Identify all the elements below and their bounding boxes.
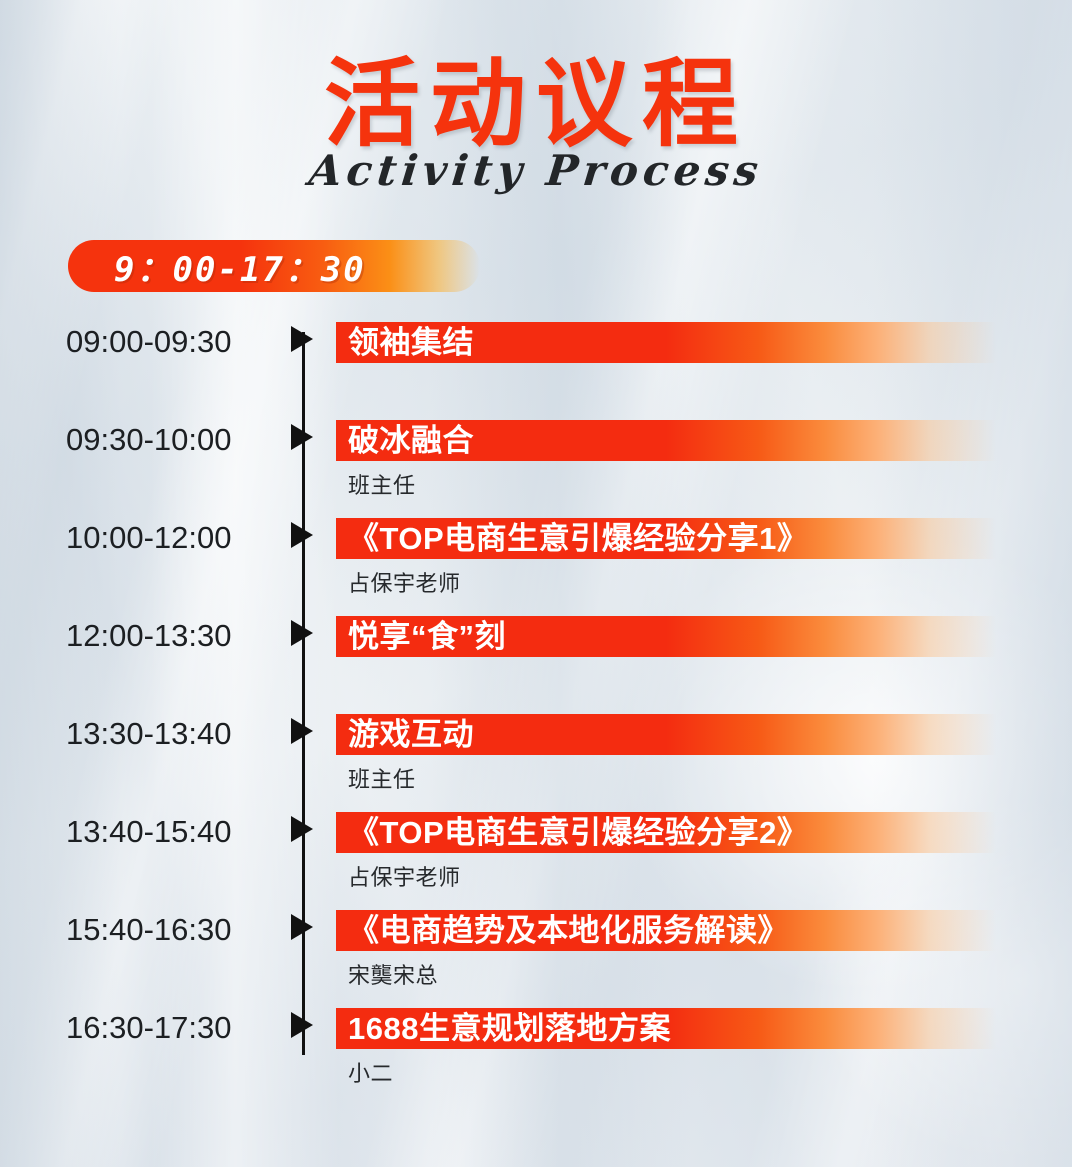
agenda-row: 09:00-09:30领袖集结: [0, 318, 1072, 416]
agenda-poster: 活动议程 Activity Process 9：00-17：30 09:00-0…: [0, 0, 1072, 1167]
agenda-row-bar: 《TOP电商生意引爆经验分享2》: [336, 812, 996, 853]
page-title: 活动议程: [0, 56, 1072, 152]
agenda-row-speaker: 宋龑宋总: [348, 958, 438, 990]
agenda-list: 09:00-09:30领袖集结09:30-10:00破冰融合班主任10:00-1…: [0, 318, 1072, 1102]
agenda-row-time: 15:40-16:30: [66, 912, 288, 948]
agenda-row: 15:40-16:30《电商趋势及本地化服务解读》宋龑宋总: [0, 906, 1072, 1004]
agenda-row: 09:30-10:00破冰融合班主任: [0, 416, 1072, 514]
agenda-row-bar: 1688生意规划落地方案: [336, 1008, 996, 1049]
poster-header: 活动议程 Activity Process: [0, 0, 1072, 225]
agenda-row-title: 游戏互动: [336, 719, 474, 750]
agenda-row-title: 悦享“食”刻: [336, 621, 506, 652]
agenda-row: 13:30-13:40游戏互动班主任: [0, 710, 1072, 808]
agenda-row-speaker: 占保宇老师: [348, 860, 461, 892]
agenda-row-time: 13:30-13:40: [66, 716, 288, 752]
agenda-row-speaker: 班主任: [348, 762, 416, 794]
agenda-row: 12:00-13:30悦享“食”刻: [0, 612, 1072, 710]
agenda-row-bar: 《电商趋势及本地化服务解读》: [336, 910, 996, 951]
agenda-row-speaker: 小二: [348, 1056, 393, 1088]
timeline-marker-triangle-icon: [291, 914, 313, 940]
time-range-badge-label: 9：00-17：30: [68, 242, 366, 291]
agenda-row-time: 09:00-09:30: [66, 324, 288, 360]
page-subtitle: Activity Process: [0, 150, 1072, 192]
time-range-badge: 9：00-17：30: [68, 240, 480, 292]
timeline-marker-triangle-icon: [291, 326, 313, 352]
timeline-marker-triangle-icon: [291, 1012, 313, 1038]
timeline-marker-triangle-icon: [291, 816, 313, 842]
timeline-marker-triangle-icon: [291, 522, 313, 548]
agenda-row-bar: 游戏互动: [336, 714, 996, 755]
agenda-row-time: 09:30-10:00: [66, 422, 288, 458]
agenda-row-title: 《TOP电商生意引爆经验分享2》: [336, 817, 808, 848]
agenda-row-bar: 领袖集结: [336, 322, 996, 363]
agenda-row-bar: 破冰融合: [336, 420, 996, 461]
agenda-row-title: 《TOP电商生意引爆经验分享1》: [336, 523, 808, 554]
timeline-marker-triangle-icon: [291, 620, 313, 646]
agenda-row-title: 领袖集结: [336, 327, 474, 358]
agenda-row-title: 1688生意规划落地方案: [336, 1013, 671, 1044]
timeline-marker-triangle-icon: [291, 424, 313, 450]
agenda-row-title: 《电商趋势及本地化服务解读》: [336, 915, 789, 946]
agenda-row-speaker: 占保宇老师: [348, 566, 461, 598]
agenda-row-time: 10:00-12:00: [66, 520, 288, 556]
agenda-row-time: 13:40-15:40: [66, 814, 288, 850]
agenda-row-bar: 悦享“食”刻: [336, 616, 996, 657]
agenda-row: 10:00-12:00《TOP电商生意引爆经验分享1》占保宇老师: [0, 514, 1072, 612]
agenda-row-title: 破冰融合: [336, 425, 474, 456]
agenda-row-speaker: 班主任: [348, 468, 416, 500]
agenda-row-time: 16:30-17:30: [66, 1010, 288, 1046]
agenda-row: 16:30-17:301688生意规划落地方案小二: [0, 1004, 1072, 1102]
agenda-row-bar: 《TOP电商生意引爆经验分享1》: [336, 518, 996, 559]
agenda-row: 13:40-15:40《TOP电商生意引爆经验分享2》占保宇老师: [0, 808, 1072, 906]
agenda-row-time: 12:00-13:30: [66, 618, 288, 654]
timeline-marker-triangle-icon: [291, 718, 313, 744]
